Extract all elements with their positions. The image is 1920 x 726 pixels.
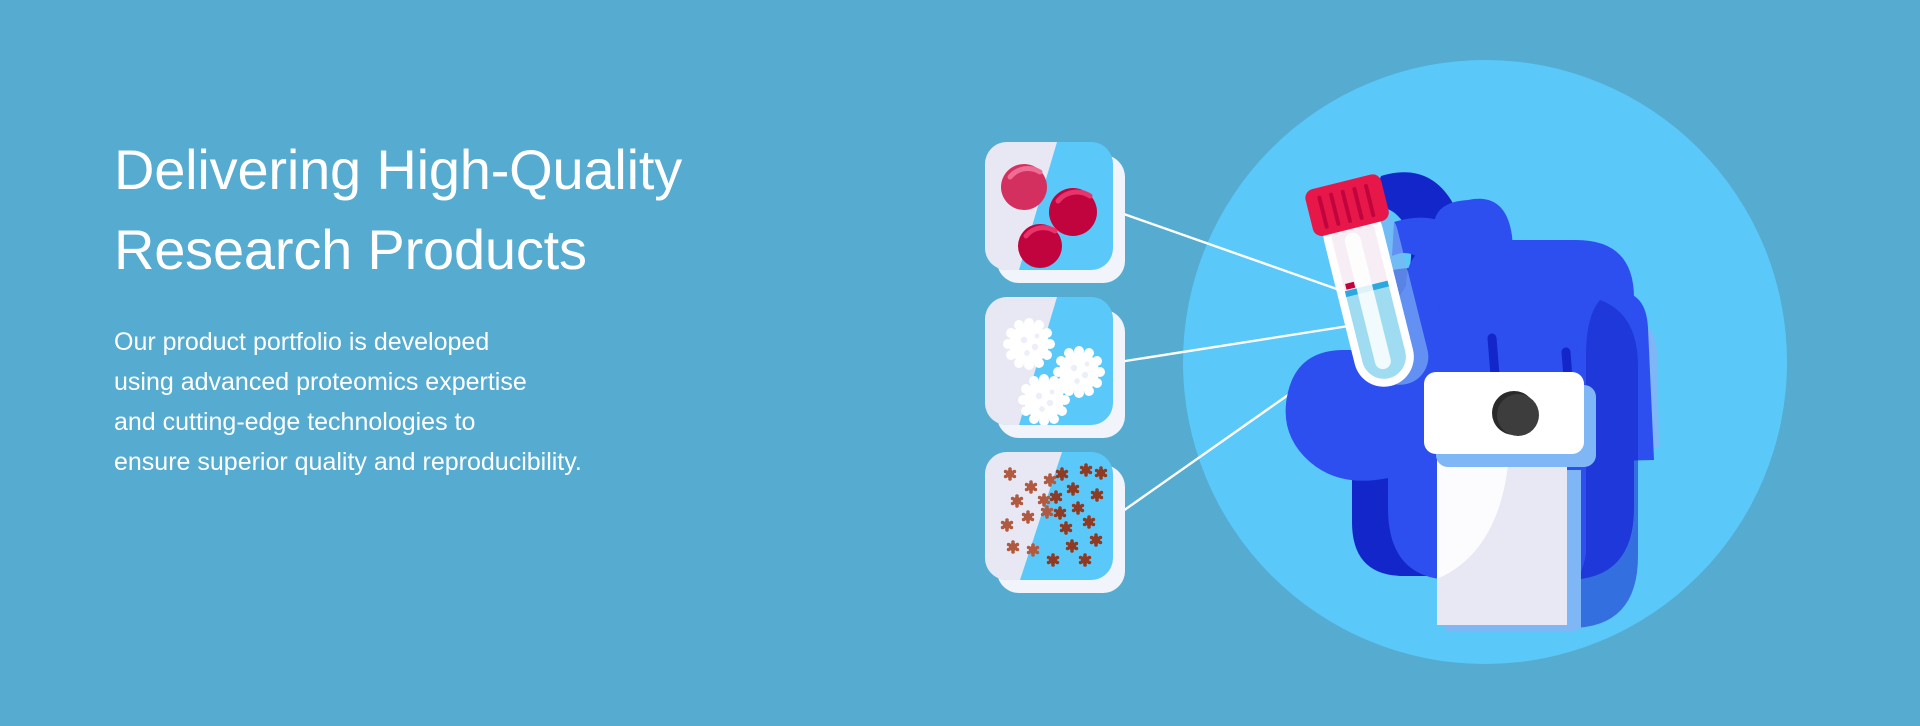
hero-description: Our product portfolio is developed using… bbox=[114, 290, 874, 482]
sample-card-red-cells[interactable] bbox=[985, 142, 1125, 283]
hero-banner: Delivering High-Quality Research Product… bbox=[0, 0, 1920, 726]
lab-coat-cuff bbox=[1424, 372, 1596, 630]
sample-card-white-cells[interactable] bbox=[985, 297, 1125, 438]
hero-text-block: Delivering High-Quality Research Product… bbox=[114, 130, 874, 482]
page-title: Delivering High-Quality Research Product… bbox=[114, 130, 874, 290]
cuff-button bbox=[1497, 394, 1539, 436]
sample-card-particles[interactable] bbox=[985, 452, 1125, 593]
